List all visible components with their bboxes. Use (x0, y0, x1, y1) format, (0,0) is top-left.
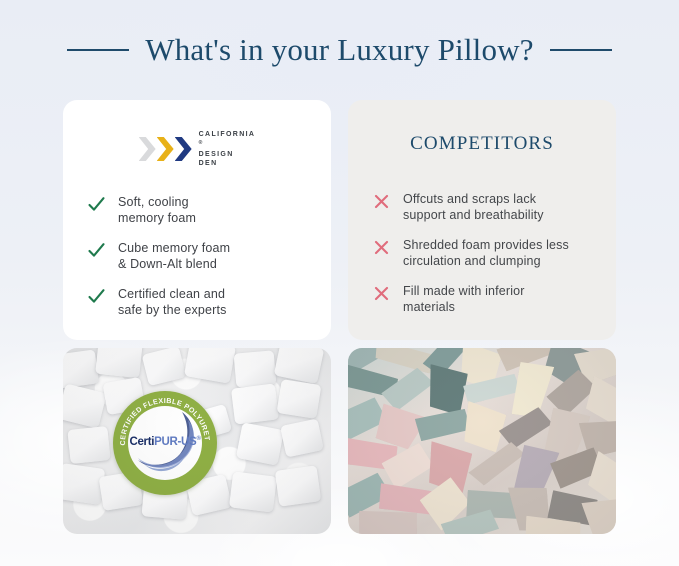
list-item: Certified clean and safe by the experts (88, 287, 323, 318)
competitor-drawback-list: Offcuts and scraps lack support and brea… (373, 192, 608, 315)
list-item-label: Offcuts and scraps lack support and brea… (403, 192, 544, 223)
check-icon (88, 288, 105, 309)
header-rule-right (550, 49, 612, 51)
header-rule-left (67, 49, 129, 51)
check-icon (88, 196, 105, 217)
list-item-label: Shredded foam provides less circulation … (403, 238, 569, 269)
brand-wordmark-line-3: DEN (199, 160, 256, 169)
own-brand-column: CALIFORNIA® DESIGN DEN Soft, cooling mem… (63, 100, 331, 534)
list-item: Cube memory foam & Down-Alt blend (88, 241, 323, 272)
registered-mark: ® (199, 140, 203, 146)
shredded-foam-scraps-photo (348, 348, 616, 534)
own-benefit-list: Soft, cooling memory foam Cube memory fo… (88, 195, 323, 318)
brand-wordmark-line-2: DESIGN (199, 151, 256, 160)
brand-wordmark: CALIFORNIA® DESIGN DEN (199, 130, 256, 169)
brand-wordmark-line-1: CALIFORNIA® (199, 131, 256, 152)
scraps-photo-texture (348, 348, 616, 534)
list-item-label: Fill made with inferior materials (403, 284, 525, 315)
white-cube-memory-foam-photo: CONTAINS CERTIFIED FLEXIBLE POLYURETHANE… (63, 348, 331, 534)
cross-icon (373, 239, 390, 260)
brand-logo: CALIFORNIA® DESIGN DEN (63, 131, 331, 167)
own-brand-card: CALIFORNIA® DESIGN DEN Soft, cooling mem… (63, 100, 331, 340)
chevron-gold-icon (157, 137, 174, 161)
list-item: Offcuts and scraps lack support and brea… (373, 192, 608, 223)
list-item-label: Certified clean and safe by the experts (118, 287, 226, 318)
list-item: Soft, cooling memory foam (88, 195, 323, 226)
list-item-label: Cube memory foam & Down-Alt blend (118, 241, 230, 272)
list-item: Fill made with inferior materials (373, 284, 608, 315)
seal-inner-disc: CertiPUR-US® (128, 406, 202, 480)
page-header: What's in your Luxury Pillow? (0, 22, 679, 78)
certipur-us-seal: CONTAINS CERTIFIED FLEXIBLE POLYURETHANE… (113, 391, 217, 495)
foam-photo-texture: CONTAINS CERTIFIED FLEXIBLE POLYURETHANE… (63, 348, 331, 534)
check-icon (88, 242, 105, 263)
cross-icon (373, 285, 390, 306)
chevron-navy-icon (175, 137, 192, 161)
three-chevrons-icon (139, 137, 192, 161)
competitor-heading: COMPETITORS (348, 133, 616, 155)
list-item: Shredded foam provides less circulation … (373, 238, 608, 269)
page-background: What's in your Luxury Pillow? CALIFORNIA… (0, 0, 679, 566)
list-item-label: Soft, cooling memory foam (118, 195, 196, 226)
competitor-column: COMPETITORS Offcuts and scraps lack supp… (348, 100, 616, 534)
cross-icon (373, 193, 390, 214)
chevron-gray-icon (139, 137, 156, 161)
page-title: What's in your Luxury Pillow? (145, 32, 534, 68)
competitor-card: COMPETITORS Offcuts and scraps lack supp… (348, 100, 616, 340)
seal-wordmark: CertiPUR-US® (128, 436, 202, 448)
